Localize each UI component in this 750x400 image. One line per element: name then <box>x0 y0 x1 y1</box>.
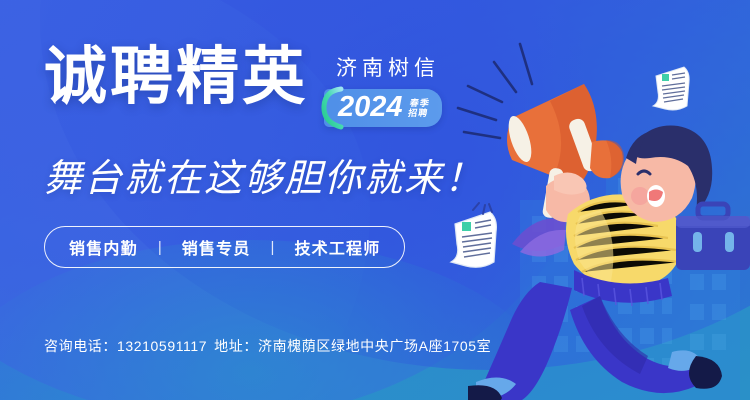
page-title: 诚聘精英 <box>44 46 308 109</box>
address-label: 地址： <box>214 338 258 354</box>
position-item-2: 销售专员 <box>182 235 251 259</box>
season-char-1: 春 <box>409 98 420 108</box>
phone-label: 咨询电话： <box>44 338 117 354</box>
season-char-2: 季 <box>419 98 430 108</box>
season-label: 春 季 招 聘 <box>407 98 429 118</box>
headline-row: 诚聘精英 济南树信 <box>44 46 564 127</box>
company-name: 济南树信 <box>336 52 440 82</box>
recruitment-banner: 诚聘精英 济南树信 <box>0 0 750 400</box>
copy-block: 诚聘精英 济南树信 <box>44 46 564 268</box>
positions-pill: 销售内勤 | 销售专员 | 技术工程师 <box>44 226 405 268</box>
position-item-3: 技术工程师 <box>294 235 380 259</box>
subtitle: 舞台就在这够胆你就来！ <box>44 147 564 202</box>
phone-number: 13210591117 <box>117 338 207 354</box>
badge-block: 济南树信 2024 <box>324 52 442 127</box>
year-number: 2024 <box>338 93 403 122</box>
contact-line: 咨询电话：13210591117地址：济南槐荫区绿地中央广场A座1705室 <box>44 336 491 356</box>
season-char-4: 聘 <box>417 108 428 118</box>
position-separator: | <box>271 239 275 256</box>
year-badge: 2024 春 季 招 聘 <box>324 89 442 127</box>
position-item-1: 销售内勤 <box>69 235 138 259</box>
position-separator: | <box>158 239 162 256</box>
year-pill: 2024 春 季 招 聘 <box>324 89 442 127</box>
season-char-3: 招 <box>407 108 418 118</box>
address-value: 济南槐荫区绿地中央广场A座1705室 <box>258 338 491 354</box>
resume-paper-icon <box>651 62 695 114</box>
